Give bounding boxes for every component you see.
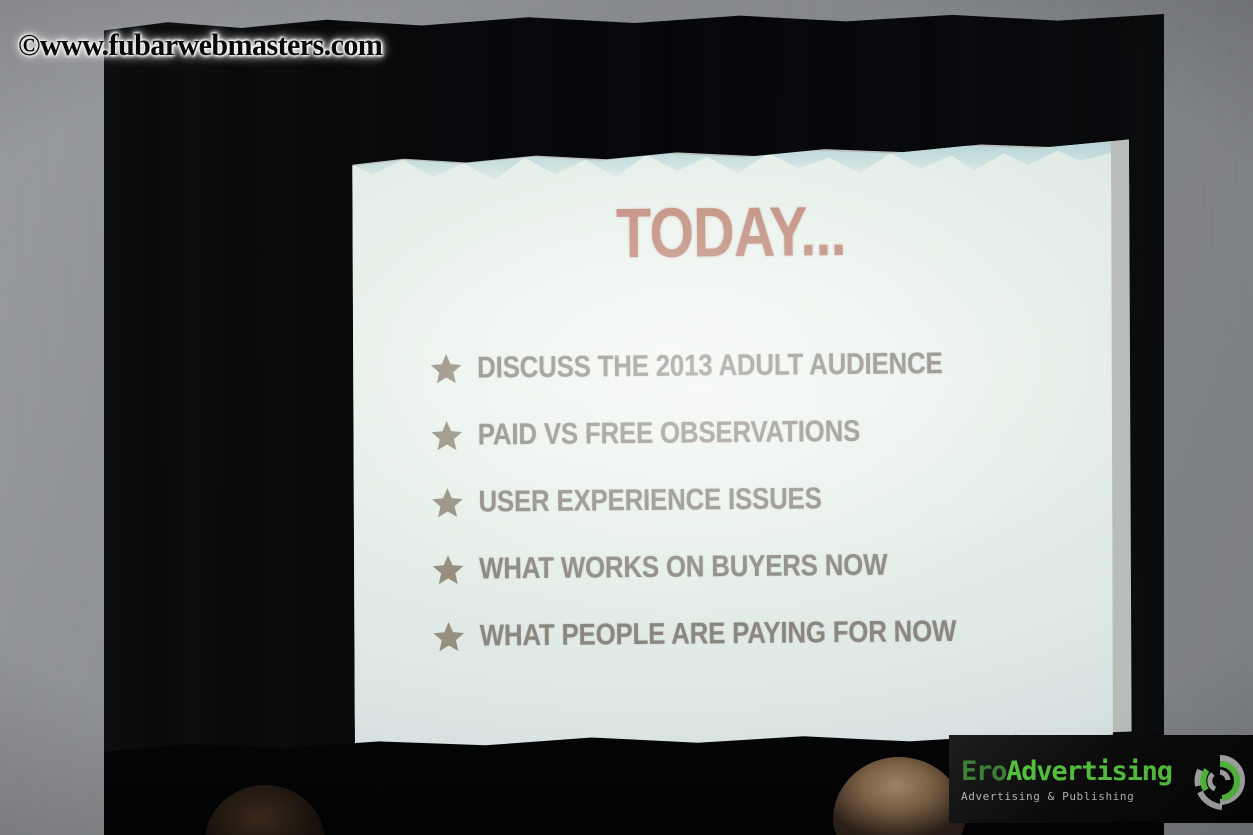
slide-title: TODAY... [418, 189, 1044, 275]
list-item: DISCUSS THE 2013 ADULT AUDIENCE [429, 329, 1070, 402]
list-item-label: WHAT PEOPLE ARE PAYING FOR NOW [480, 614, 957, 653]
logo-word-first: Ero [961, 756, 1006, 787]
list-item-label: DISCUSS THE 2013 ADULT AUDIENCE [477, 347, 943, 385]
list-item: WHAT WORKS ON BUYERS NOW [431, 530, 1072, 603]
list-item: PAID VS FREE OBSERVATIONS [430, 396, 1071, 469]
projected-slide: TODAY... DISCUSS THE 2013 ADULT AUDIENCE [349, 136, 1117, 763]
list-item-label: WHAT WORKS ON BUYERS NOW [479, 548, 887, 586]
slide-bullet-list: DISCUSS THE 2013 ADULT AUDIENCE PAID VS … [429, 329, 1072, 670]
logo-wordmark: EroAdvertising [961, 758, 1172, 785]
star-icon [429, 351, 463, 385]
logo-tagline: Advertising & Publishing [961, 790, 1172, 803]
list-item: USER EXPERIENCE ISSUES [430, 463, 1071, 536]
star-icon [430, 485, 464, 519]
star-icon [430, 418, 464, 452]
site-watermark: ©www.fubarwebmasters.com [18, 27, 382, 63]
list-item-label: PAID VS FREE OBSERVATIONS [478, 414, 861, 452]
conference-photo-scene: TODAY... DISCUSS THE 2013 ADULT AUDIENCE [0, 0, 1253, 835]
list-item-label: USER EXPERIENCE ISSUES [478, 482, 822, 519]
concentric-arcs-icon [1182, 746, 1253, 814]
list-item: WHAT PEOPLE ARE PAYING FOR NOW [431, 597, 1072, 670]
ero-advertising-logo: EroAdvertising Advertising & Publishing [949, 735, 1253, 823]
star-icon [431, 552, 465, 586]
logo-word-second: Advertising [1006, 756, 1172, 787]
projection-screen: TODAY... DISCUSS THE 2013 ADULT AUDIENCE [349, 136, 1135, 763]
star-icon [432, 619, 466, 653]
